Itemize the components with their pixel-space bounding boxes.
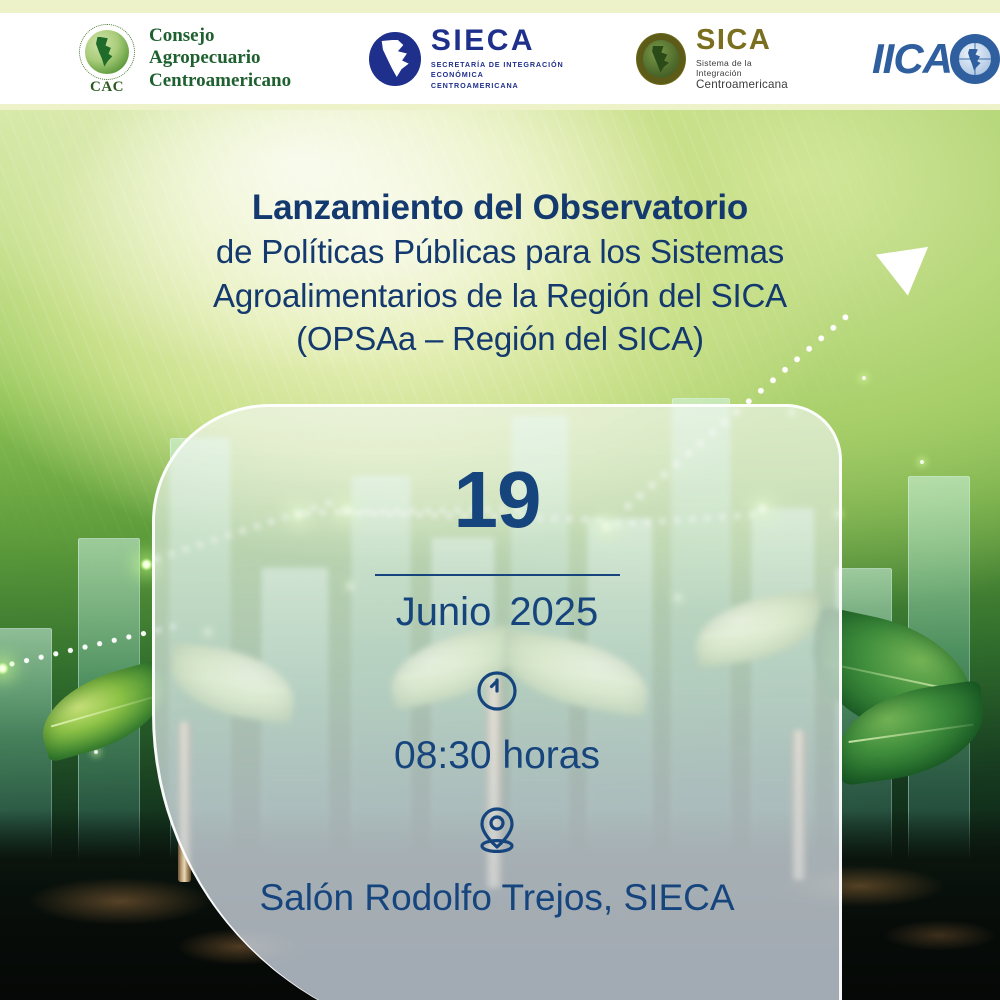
cac-line-2: Agropecuario [149,47,291,69]
logo-iica: IICA [872,34,1000,84]
sieca-wordmark: SIECA [431,26,568,56]
event-poster: 19 Junio2025 08:30 horas Salón Rodolfo T… [0,0,1000,1000]
logo-cac: CAC Consejo Agropecuario Centroamericano [76,22,291,96]
cac-emblem-icon: CAC [76,22,138,96]
cac-line-1: Consejo [149,25,291,47]
title-line-2: de Políticas Públicas para los Sistemas [0,230,1000,274]
event-month-year: Junio2025 [152,592,842,632]
header-bottom-strip [0,104,1000,110]
iica-seal-icon [950,34,1000,84]
sica-wordmark: SICA [696,26,796,55]
logo-sica: SICA Sistema de la Integración Centroame… [636,26,796,91]
event-details-content: 19 Junio2025 08:30 horas Salón Rodolfo T… [152,404,842,916]
event-time: 08:30 horas [152,736,842,775]
sica-emblem-icon [636,33,686,85]
poster-title: Lanzamiento del Observatorio de Política… [0,186,1000,361]
iica-wordmark: IICA [872,38,952,80]
header-top-strip [0,0,1000,13]
clock-icon [152,668,842,714]
title-line-3: Agroalimentarios de la Región del SICA [0,274,1000,318]
event-year: 2025 [509,590,598,634]
sica-subtitle-1: Sistema de la Integración [696,58,796,78]
cac-line-3: Centroamericano [149,70,291,92]
event-month: Junio [396,590,492,634]
title-line-1: Lanzamiento del Observatorio [0,186,1000,230]
title-line-4: (OPSAa – Región del SICA) [0,317,1000,361]
logo-header: CAC Consejo Agropecuario Centroamericano… [0,0,1000,110]
cac-wordmark: Consejo Agropecuario Centroamericano [149,25,291,91]
location-pin-icon [152,803,842,855]
event-venue: Salón Rodolfo Trejos, SIECA [152,879,842,916]
cac-acronym: CAC [76,79,138,96]
sieca-subtitle-1: SECRETARÍA DE INTEGRACIÓN [431,60,568,70]
sica-subtitle-2: Centroamericana [696,78,796,91]
card-divider [375,574,620,576]
event-day: 19 [152,460,842,540]
sieca-emblem-icon [369,32,421,86]
logo-sieca: SIECA SECRETARÍA DE INTEGRACIÓN ECONÓMIC… [369,26,568,91]
sieca-subtitle-2: ECONÓMICA CENTROAMERICANA [431,70,568,90]
